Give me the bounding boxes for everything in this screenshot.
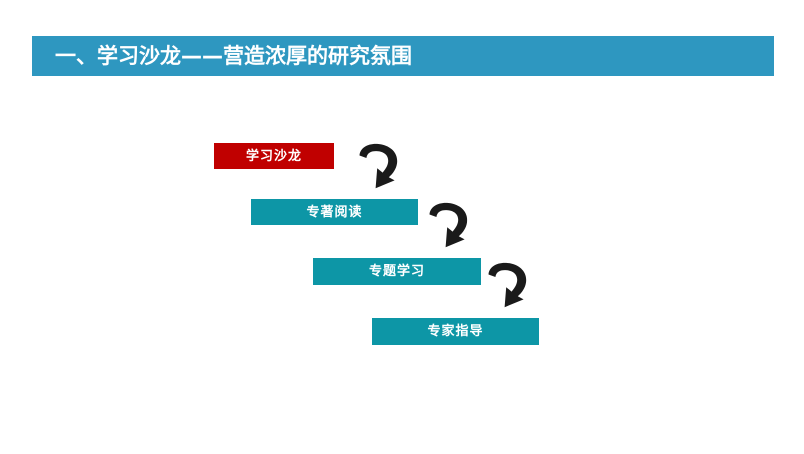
step-box-3[interactable]: 专题学习 xyxy=(313,258,481,285)
slide-canvas: 一、学习沙龙——营造浓厚的研究氛围 学习沙龙 专著阅读 专题学习 专家指导 xyxy=(0,0,804,454)
curved-hook-arrow-icon xyxy=(486,260,536,312)
step-box-1[interactable]: 学习沙龙 xyxy=(214,143,334,169)
step-box-4[interactable]: 专家指导 xyxy=(372,318,539,345)
step-box-2[interactable]: 专著阅读 xyxy=(251,199,418,225)
curved-hook-arrow-icon xyxy=(357,141,407,193)
page-title: 一、学习沙龙——营造浓厚的研究氛围 xyxy=(55,46,412,67)
step-box-4-label: 专家指导 xyxy=(427,325,483,338)
step-box-3-label: 专题学习 xyxy=(369,265,425,278)
step-box-2-label: 专著阅读 xyxy=(306,206,362,219)
section-title-bar: 一、学习沙龙——营造浓厚的研究氛围 xyxy=(32,36,774,76)
step-box-1-label: 学习沙龙 xyxy=(246,150,302,163)
curved-hook-arrow-icon xyxy=(427,200,477,252)
